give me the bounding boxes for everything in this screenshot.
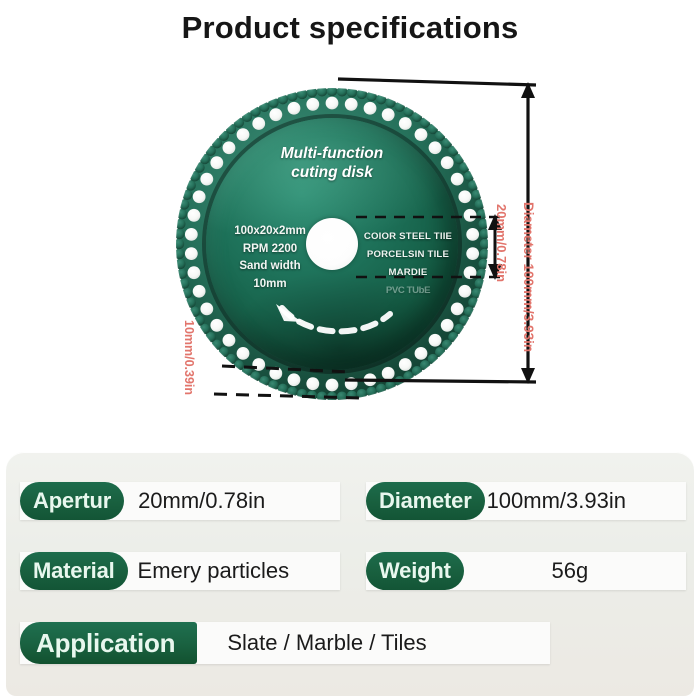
cutting-disk-image: Multi-function cuting disk 100x20x2mm RP… [176, 88, 488, 400]
product-illustration: Multi-function cuting disk 100x20x2mm RP… [0, 62, 700, 432]
dimension-diameter-label: Diameter 100mm/3.93in [521, 202, 536, 352]
rotation-direction-arrow [272, 296, 396, 340]
blade-spec-sandwidth-value: 10mm [214, 276, 326, 294]
spec-cell-application: Application Slate / Marble / Tiles [20, 622, 550, 664]
spec-key-apertur: Apertur [20, 482, 124, 520]
blade-center-bore [306, 218, 358, 270]
dim-top-extension-line [338, 79, 536, 85]
spec-cell-material: Material Emery particles [20, 552, 340, 590]
spec-value-application: Slate / Marble / Tiles [197, 630, 436, 656]
blade-material-porcelain: PORCELSIN TILE [350, 246, 466, 264]
dimension-thickness-label: 10mm/0.39in [182, 320, 196, 395]
dimension-aperture-label: 20mm/0.78in [494, 204, 509, 282]
spec-key-weight: Weight [366, 552, 464, 590]
blade-material-steel-tile: COIOR STEEL TIIE [350, 228, 466, 246]
spec-cell-diameter: Diameter 100mm/3.93in [366, 482, 686, 520]
spec-value-material: Emery particles [128, 558, 300, 584]
blade-material-marble: MARDIE [350, 264, 466, 282]
spec-value-weight: 56g [464, 558, 686, 584]
spec-row-material: Material Emery particles [20, 552, 340, 590]
spec-value-apertur: 20mm/0.78in [124, 488, 275, 514]
page-title: Product specifications [0, 10, 700, 46]
spec-key-material: Material [20, 552, 128, 590]
blade-spec-sandwidth: Sand width [214, 258, 326, 276]
spec-key-diameter: Diameter [366, 482, 485, 520]
spec-value-diameter: 100mm/3.93in [485, 488, 636, 514]
spec-row-weight: Weight 56g [366, 552, 686, 590]
spec-key-application: Application [20, 622, 197, 664]
spec-row-application: Application Slate / Marble / Tiles [20, 622, 550, 664]
spec-row-diameter: Diameter 100mm/3.93in [366, 482, 686, 520]
spec-cell-weight: Weight 56g [366, 552, 686, 590]
blade-right-specs: COIOR STEEL TIIE PORCELSIN TILE MARDIE P… [350, 228, 466, 300]
specification-panel: Apertur 20mm/0.78in Diameter 100mm/3.93i… [6, 452, 694, 696]
spec-cell-apertur: Apertur 20mm/0.78in [20, 482, 340, 520]
spec-row-apertur: Apertur 20mm/0.78in [20, 482, 340, 520]
